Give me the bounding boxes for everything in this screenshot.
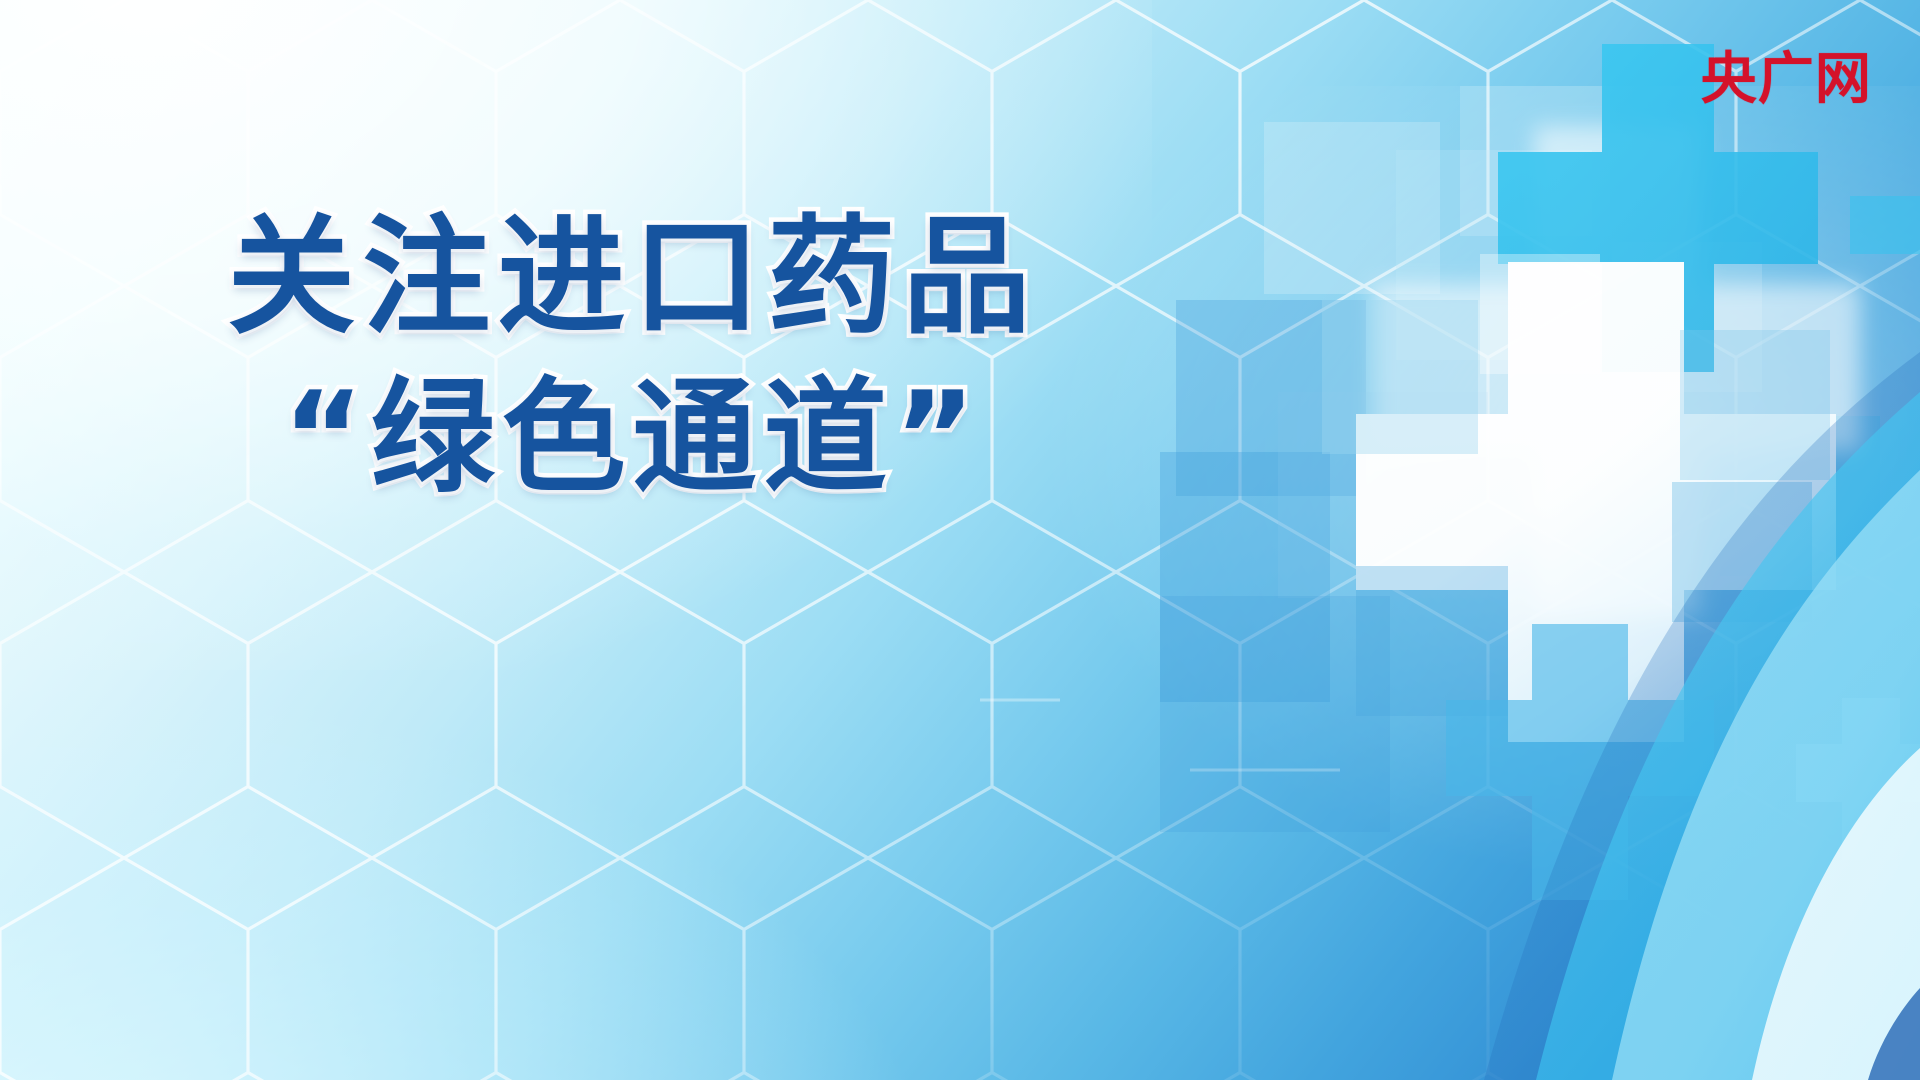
title-line-1: 关注进口药品 (0, 214, 1265, 342)
cnr-logo-text: 央广网 (1701, 52, 1872, 108)
medical-cross-motif (1160, 0, 1920, 1080)
title-block: 关注进口药品 “绿色通道” (0, 214, 1265, 500)
cnr-logo[interactable]: 央广网 (1701, 52, 1872, 108)
title-card: 关注进口药品 “绿色通道” 央广网 (0, 0, 1920, 1080)
title-line-2: “绿色通道” (0, 376, 1265, 500)
